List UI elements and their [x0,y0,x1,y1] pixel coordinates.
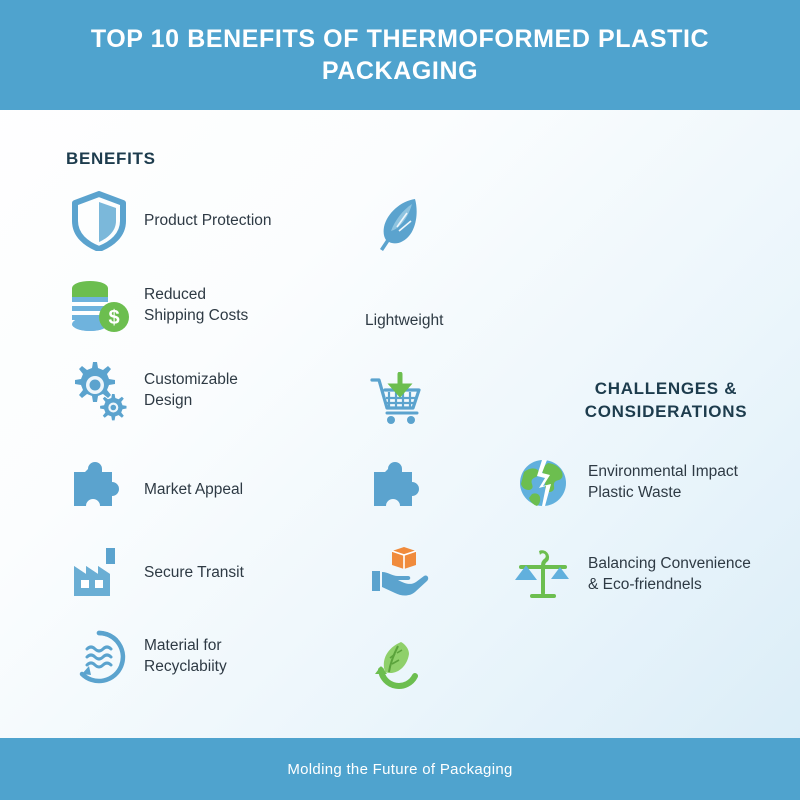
puzzle-icon [368,459,430,521]
challenge-item-balancing-convenience: Balancing Convenience & Eco-friendnels [512,544,751,606]
middle-icon-hand-holding-box [368,542,430,604]
puzzle-icon [68,459,130,521]
hand-holding-box-icon [368,542,430,604]
middle-icon-puzzle [368,459,430,521]
challenge-item-environmental-impact: Environmental Impact Plastic Waste [512,452,738,514]
header-banner: TOP 10 BENEFITS OF THERMOFORMED PLASTIC … [0,0,800,110]
shield-icon [68,190,130,252]
benefit-item-market-appeal: Market Appeal [68,459,243,521]
factory-icon [68,542,130,604]
middle-label-lightweight: Lightweight [365,312,443,330]
benefit-label: Customizable Design [144,370,238,412]
feather-icon [368,192,430,254]
middle-icon-shopping-cart [368,370,430,432]
page-title: TOP 10 BENEFITS OF THERMOFORMED PLASTIC … [90,23,710,87]
infographic-poster: TOP 10 BENEFITS OF THERMOFORMED PLASTIC … [0,0,800,800]
cracked-globe-icon [512,452,574,514]
gears-icon [68,360,130,422]
benefit-item-secure-transit: Secure Transit [68,542,244,604]
benefit-item-reduced-shipping-costs: $ Reduced Shipping Costs [68,275,248,337]
benefit-label: Product Protection [144,211,272,232]
benefit-item-material-recyclability: Material for Recyclabiity [68,626,227,688]
shopping-cart-down-arrow-icon [368,370,430,432]
benefit-label: Market Appeal [144,480,243,501]
challenge-label: Environmental Impact Plastic Waste [588,462,738,504]
svg-text:$: $ [108,307,119,329]
benefit-label: Reduced Shipping Costs [144,285,248,327]
middle-icon-leaf-recycle [368,636,430,698]
coins-icon: $ [68,275,130,337]
challenge-label: Balancing Convenience & Eco-friendnels [588,554,751,596]
benefit-item-product-protection: Product Protection [68,190,272,252]
benefit-label: Secure Transit [144,563,244,584]
challenges-section-heading: CHALLENGES & CONSIDERATIONS [556,378,776,424]
benefits-section-heading: BENEFITS [66,148,156,171]
balance-scale-question-icon [512,544,574,606]
leaf-recycle-icon [368,636,430,698]
recycling-water-icon [68,626,130,688]
middle-icon-feather [368,192,430,254]
benefit-label: Material for Recyclabiity [144,636,227,678]
footer-banner: Molding the Future of Packaging [0,738,800,800]
benefit-item-customizable-design: Customizable Design [68,360,238,422]
footer-tagline: Molding the Future of Packaging [287,761,512,778]
